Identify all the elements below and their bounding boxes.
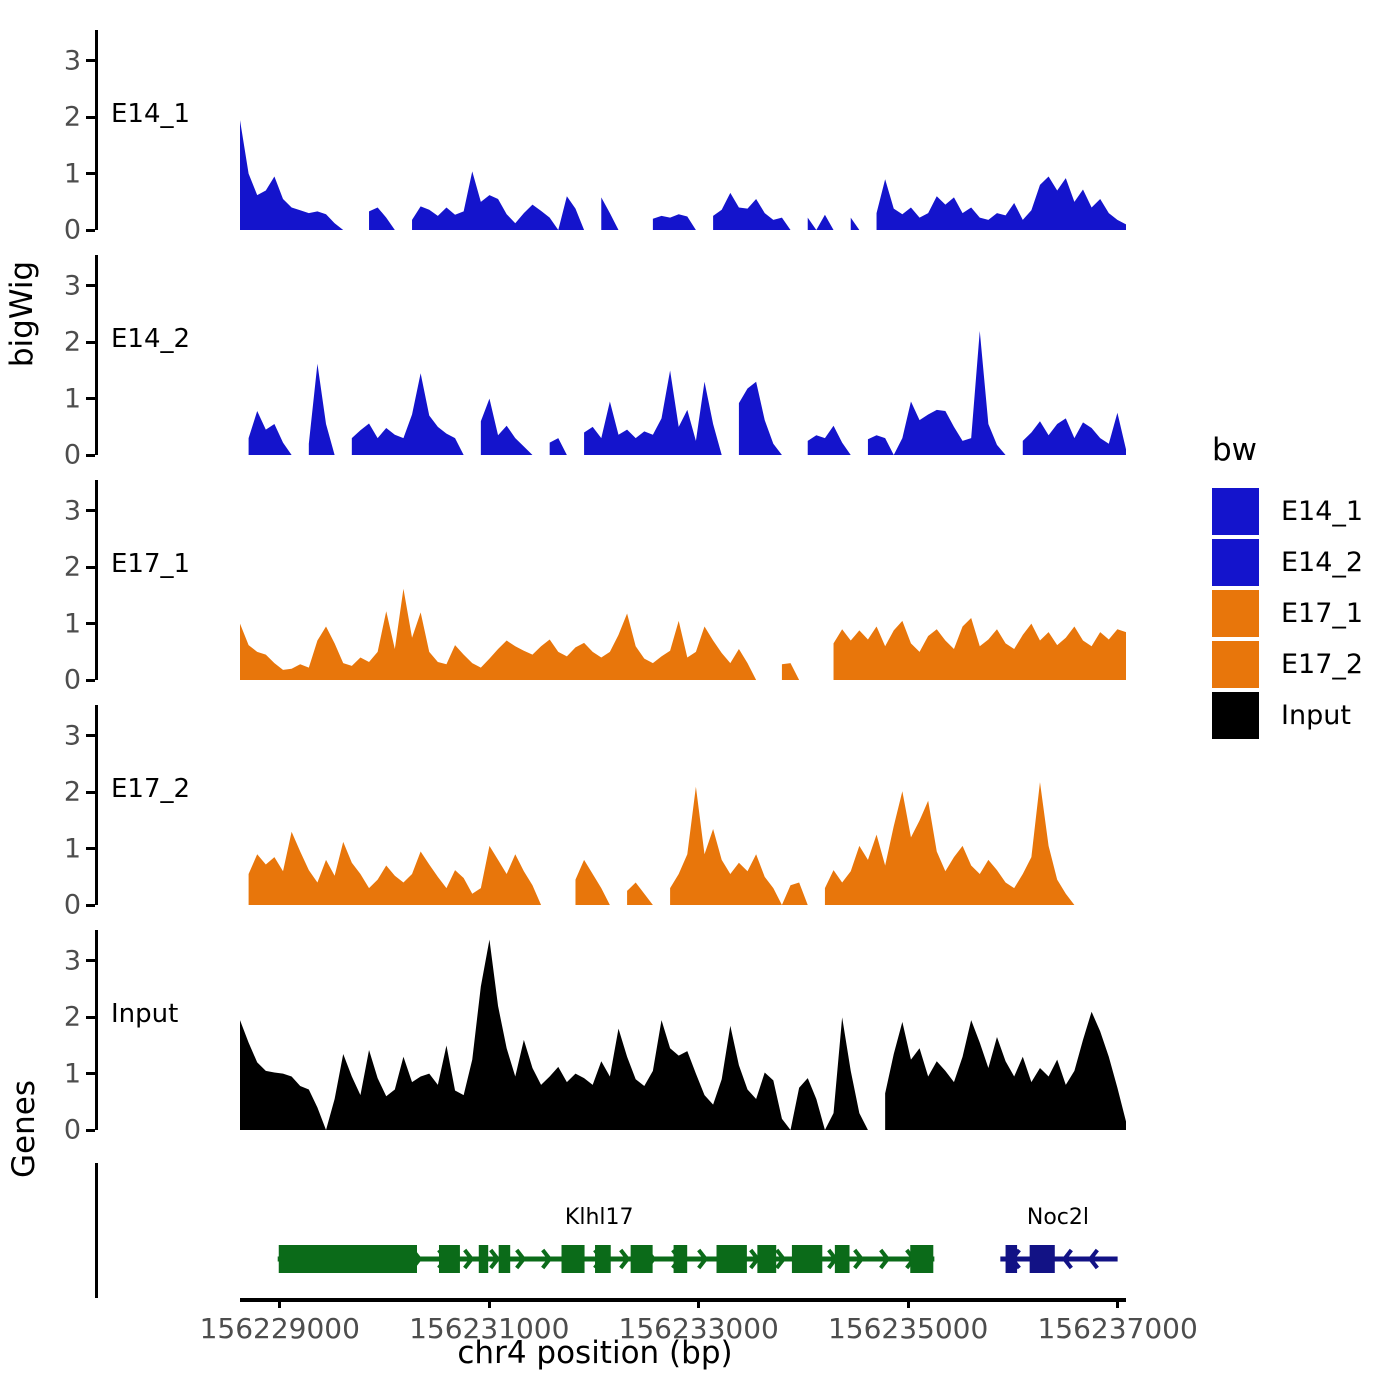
- y-tick-label: 1: [64, 1058, 81, 1089]
- y-tick-label: 3: [64, 270, 81, 301]
- y-tick-label: 2: [64, 102, 81, 133]
- y-tick-label: 2: [64, 327, 81, 358]
- legend-item-e14_1[interactable]: E14_1: [1212, 486, 1363, 537]
- x-tick-label: 156231000: [409, 1312, 569, 1345]
- y-axis-title: bigWig: [4, 164, 40, 464]
- y-tick-label: 0: [64, 1115, 81, 1146]
- legend-swatch: [1212, 488, 1259, 535]
- legend-label: E17_1: [1281, 598, 1363, 629]
- y-tick: [86, 847, 95, 850]
- x-tick-label: 156233000: [619, 1312, 779, 1345]
- legend-swatch: [1212, 692, 1259, 739]
- y-tick: [86, 509, 95, 512]
- track-label-e14_2: E14_2: [111, 324, 190, 354]
- legend-label: Input: [1281, 700, 1351, 731]
- y-tick: [86, 229, 95, 232]
- legend-swatch: [1212, 539, 1259, 586]
- x-tick: [1116, 1298, 1119, 1308]
- y-tick: [86, 454, 95, 457]
- y-tick-label: 0: [64, 215, 81, 246]
- legend: bw E14_1E14_2E17_1E17_2Input: [1212, 432, 1363, 741]
- y-tick: [86, 1016, 95, 1019]
- track-label-input: Input: [111, 999, 178, 1029]
- legend-label: E17_2: [1281, 649, 1363, 680]
- legend-label: E14_1: [1281, 496, 1363, 527]
- y-tick-label: 0: [64, 665, 81, 696]
- y-tick: [86, 1072, 95, 1075]
- track-area-e14_2: [240, 255, 1126, 455]
- y-tick: [86, 734, 95, 737]
- y-tick: [86, 284, 95, 287]
- track-label-e17_1: E17_1: [111, 549, 190, 579]
- y-tick-label: 3: [64, 720, 81, 751]
- y-axis-line: [95, 480, 98, 680]
- y-tick: [86, 59, 95, 62]
- y-tick-label: 3: [64, 945, 81, 976]
- y-tick: [86, 904, 95, 907]
- y-tick: [86, 959, 95, 962]
- y-tick-label: 1: [64, 833, 81, 864]
- track-label-e17_2: E17_2: [111, 774, 190, 804]
- track-label-e14_1: E14_1: [111, 99, 190, 129]
- legend-item-e17_1[interactable]: E17_1: [1212, 588, 1363, 639]
- y-tick-label: 2: [64, 552, 81, 583]
- y-tick: [86, 622, 95, 625]
- y-tick: [86, 1129, 95, 1132]
- x-tick-label: 156235000: [828, 1312, 988, 1345]
- track-area-e17_2: [240, 705, 1126, 905]
- legend-item-e17_2[interactable]: E17_2: [1212, 639, 1363, 690]
- y-tick: [86, 116, 95, 119]
- x-tick: [907, 1298, 910, 1308]
- x-tick: [278, 1298, 281, 1308]
- y-tick: [86, 341, 95, 344]
- y-tick: [86, 679, 95, 682]
- y-tick-label: 1: [64, 383, 81, 414]
- y-tick-label: 2: [64, 1002, 81, 1033]
- x-axis-line: [240, 1298, 1126, 1302]
- y-axis-line: [95, 255, 98, 455]
- y-tick-label: 0: [64, 440, 81, 471]
- y-tick-label: 3: [64, 495, 81, 526]
- track-area-e17_1: [240, 480, 1126, 680]
- y-tick: [86, 566, 95, 569]
- legend-swatch: [1212, 641, 1259, 688]
- y-axis-line: [95, 930, 98, 1130]
- y-tick: [86, 397, 95, 400]
- y-tick: [86, 172, 95, 175]
- y-tick: [86, 791, 95, 794]
- legend-swatch: [1212, 590, 1259, 637]
- x-tick: [697, 1298, 700, 1308]
- x-tick: [488, 1298, 491, 1308]
- legend-title: bw: [1212, 432, 1363, 468]
- track-area-input: [240, 930, 1126, 1130]
- y-tick-label: 1: [64, 608, 81, 639]
- x-tick-label: 156237000: [1037, 1312, 1197, 1345]
- y-tick-label: 1: [64, 158, 81, 189]
- y-tick-label: 3: [64, 45, 81, 76]
- legend-item-e14_2[interactable]: E14_2: [1212, 537, 1363, 588]
- legend-items: E14_1E14_2E17_1E17_2Input: [1212, 486, 1363, 741]
- y-tick-label: 2: [64, 777, 81, 808]
- y-axis-line: [95, 705, 98, 905]
- track-area-e14_1: [240, 30, 1126, 230]
- x-axis-title: chr4 position (bp): [0, 1335, 1190, 1371]
- legend-label: E14_2: [1281, 547, 1363, 578]
- y-axis-line: [95, 30, 98, 230]
- y-tick-label: 0: [64, 890, 81, 921]
- legend-item-input[interactable]: Input: [1212, 690, 1363, 741]
- x-tick-label: 156229000: [200, 1312, 360, 1345]
